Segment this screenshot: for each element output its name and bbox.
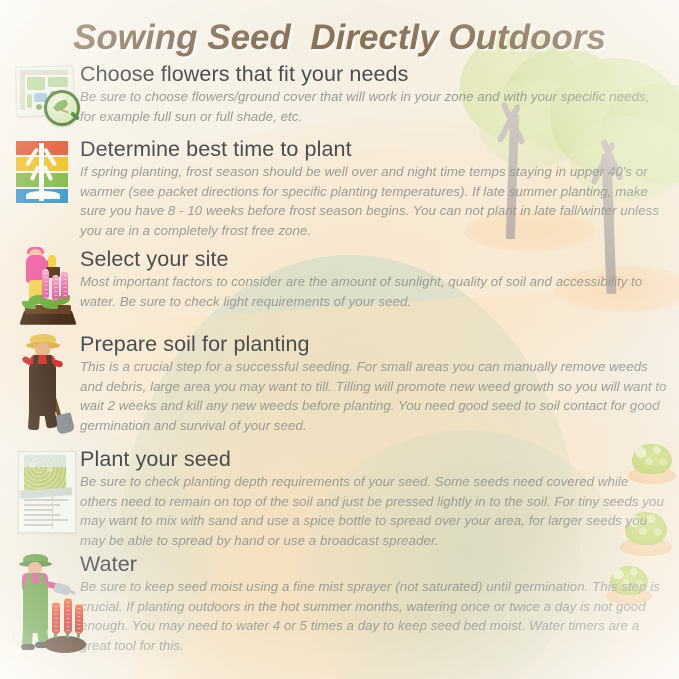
soil-mound [44, 636, 86, 653]
packet-divider [52, 497, 53, 529]
plan-plot [27, 77, 45, 90]
step-title: Plant your seed [80, 447, 667, 471]
infographic-poster: Sowing Seed Directly Outdoors [0, 0, 679, 679]
text-line [24, 504, 60, 506]
step-description: Be sure to keep seed moist using a fine … [80, 577, 667, 656]
gardener-watering-icon [10, 552, 86, 656]
garden-plan-magnifier-icon [14, 64, 78, 122]
list-item: Choose flowers that fit your needs Be su… [0, 62, 679, 137]
person-planting-flowers-icon [12, 247, 80, 329]
step-title: Select your site [80, 247, 667, 271]
plan-path [20, 70, 68, 75]
red-flower-spike [52, 602, 60, 634]
page-title: Sowing Seed Directly Outdoors [0, 18, 679, 58]
step-description: Most important factors to consider are t… [80, 272, 667, 311]
foxglove-spike [61, 271, 68, 299]
list-item: Plant your seed Be sure to check plantin… [0, 447, 679, 552]
text-line [24, 524, 53, 526]
gardener-boot-left [21, 644, 35, 650]
steps-list: Choose flowers that fit your needs Be su… [0, 62, 679, 662]
foxglove-spike [42, 269, 49, 299]
red-flower-spike [75, 604, 83, 634]
plan-path [20, 70, 25, 110]
step-title: Choose flowers that fit your needs [80, 62, 667, 86]
plan-bush [36, 104, 42, 110]
step-body: Plant your seed Be sure to check plantin… [80, 447, 679, 551]
text-line [24, 514, 60, 516]
step-icon-wrapper [8, 62, 80, 132]
step-description: If spring planting, frost season should … [80, 162, 667, 241]
plan-plot [48, 77, 68, 87]
step-description: Be sure to check planting depth requirem… [80, 472, 667, 551]
season-band-summer [16, 157, 68, 171]
step-icon-wrapper [8, 332, 80, 442]
season-band-winter [16, 189, 68, 203]
gardener-with-shovel-icon [16, 334, 78, 436]
red-flower-spike [64, 598, 72, 634]
seed-packet-icon [14, 449, 80, 537]
plan-plot [27, 94, 32, 108]
list-item: Prepare soil for planting This is a cruc… [0, 332, 679, 447]
packet-photo-sky [24, 455, 66, 467]
step-body: Water Be sure to keep seed moist using a… [80, 552, 679, 656]
list-item: Determine best time to plant If spring p… [0, 137, 679, 247]
step-icon-wrapper [8, 552, 80, 660]
magnifier-icon [44, 90, 80, 126]
step-body: Choose flowers that fit your needs Be su… [80, 62, 679, 126]
season-band-fall [16, 173, 68, 187]
step-icon-wrapper [8, 447, 80, 547]
list-item: Select your site Most important factors … [0, 247, 679, 332]
step-body: Select your site Most important factors … [80, 247, 679, 311]
step-icon-wrapper [8, 247, 80, 329]
step-title: Determine best time to plant [80, 137, 667, 161]
four-seasons-bands-icon [16, 141, 72, 207]
season-band-spring [16, 141, 68, 155]
step-description: This is a crucial step for a successful … [80, 357, 667, 436]
foxglove-spike [52, 275, 59, 301]
gardener-leg-left [28, 396, 41, 431]
packet-text-lines [24, 499, 68, 527]
text-line [24, 499, 68, 501]
text-line [24, 519, 68, 521]
list-item: Water Be sure to keep seed moist using a… [0, 552, 679, 662]
step-description: Be sure to choose flowers/ground cover t… [80, 87, 667, 126]
step-body: Prepare soil for planting This is a cruc… [80, 332, 679, 436]
step-title: Water [80, 552, 667, 576]
step-body: Determine best time to plant If spring p… [80, 137, 679, 241]
step-title: Prepare soil for planting [80, 332, 667, 356]
text-line [24, 509, 53, 511]
step-icon-wrapper [8, 137, 80, 242]
